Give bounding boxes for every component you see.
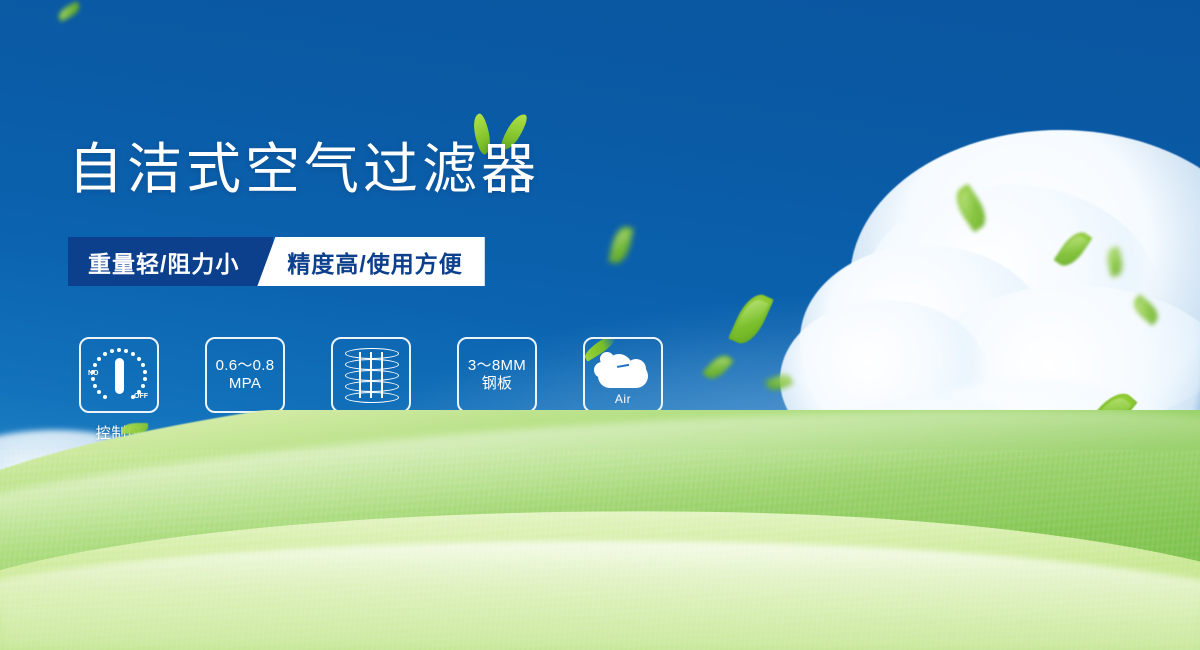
feature-icon-box: 3～8MM 钢板 <box>457 337 537 413</box>
cloud-a-mark <box>615 352 629 368</box>
feature-icon-box: Air <box>583 337 663 413</box>
pressure-unit: MPA <box>216 375 275 393</box>
steel-material: 钢板 <box>468 375 526 393</box>
page-title: 自洁式空气过滤器 <box>68 142 540 197</box>
feature-icon-box: 0.6～0.8 MPA <box>205 337 285 413</box>
filter-stack-icon <box>343 346 399 404</box>
gauge-label-no: NO <box>88 370 99 377</box>
subtitle-right-panel: 精度高/使用方便 <box>257 237 484 286</box>
cloud-air-icon: Air <box>592 346 654 404</box>
gauge-label-off: OFF <box>134 393 148 400</box>
grass-field <box>0 410 1200 650</box>
steel-thickness: 3～8MM <box>468 357 526 375</box>
pressure-text-icon: 0.6～0.8 MPA <box>216 357 275 392</box>
pressure-range: 0.6～0.8 <box>216 357 275 375</box>
grass-shade <box>0 560 1200 650</box>
product-banner: 自洁式空气过滤器 重量轻/阻力小 精度高/使用方便 <box>0 0 1200 650</box>
feature-icon-box: NO OFF <box>79 337 159 413</box>
gauge-needle <box>115 358 124 394</box>
subtitle-bar: 重量轻/阻力小 精度高/使用方便 <box>68 237 485 286</box>
feature-icon-box <box>331 337 411 413</box>
subtitle-left-panel: 重量轻/阻力小 <box>68 237 273 286</box>
steel-text-icon: 3～8MM 钢板 <box>468 357 526 392</box>
gauge-icon: NO OFF <box>88 346 150 404</box>
air-label: Air <box>592 392 654 406</box>
